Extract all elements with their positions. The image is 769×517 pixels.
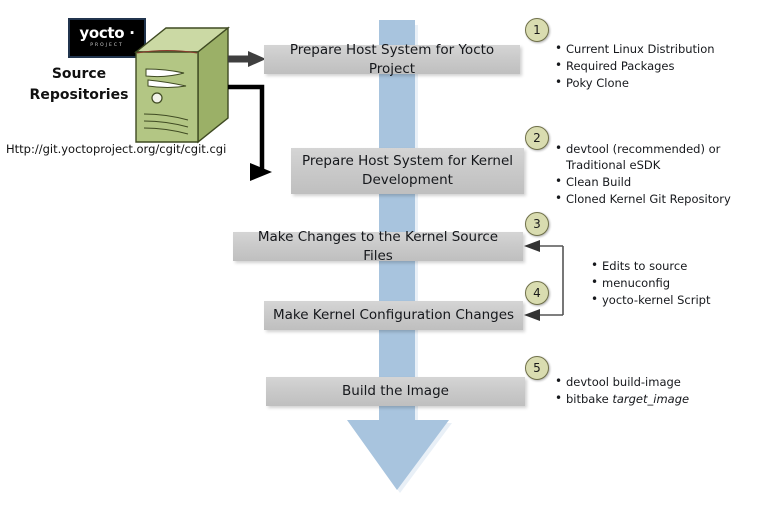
step-badge-1-number: 1 (533, 23, 541, 37)
process-box-step-5[interactable]: Build the Image (266, 377, 525, 406)
server-icon (132, 26, 232, 148)
process-box-step-1[interactable]: Prepare Host System for Yocto Project (264, 45, 520, 74)
source-label-line1: Source (16, 64, 142, 85)
process-box-step-2[interactable]: Prepare Host System for Kernel Developme… (291, 148, 524, 194)
source-repositories-label: Source Repositories (16, 64, 142, 106)
process-box-step-4[interactable]: Make Kernel Configuration Changes (264, 301, 523, 330)
note-item: devtool (recommended) or Traditional eSD… (566, 141, 726, 173)
notes-step-1: Current Linux Distribution Required Pack… (552, 41, 715, 92)
step-badge-4: 4 (525, 281, 549, 305)
logo-wordmark: yocto · (79, 26, 134, 41)
note-item: Edits to source (602, 258, 711, 274)
process-box-step-3[interactable]: Make Changes to the Kernel Source Files (233, 232, 523, 261)
step-badge-4-number: 4 (533, 286, 541, 300)
note-item: Poky Clone (566, 75, 715, 91)
step-badge-5-number: 5 (533, 361, 541, 375)
source-label-line2: Repositories (16, 85, 142, 106)
step-badge-2: 2 (525, 126, 549, 150)
process-box-step-1-label: Prepare Host System for Yocto Project (272, 41, 512, 79)
process-box-step-3-label: Make Changes to the Kernel Source Files (241, 228, 515, 266)
logo-subtext: PROJECT (90, 42, 123, 50)
notes-steps-3-and-4: Edits to source menuconfig yocto-kernel … (588, 258, 711, 309)
notes-step-2: devtool (recommended) or Traditional eSD… (552, 141, 731, 208)
step-badge-3: 3 (525, 212, 549, 236)
process-box-step-2-label-line2: Development (362, 171, 453, 190)
process-box-step-5-label: Build the Image (342, 382, 449, 401)
note-item: Required Packages (566, 58, 715, 74)
step-badge-2-number: 2 (533, 131, 541, 145)
note-item: Current Linux Distribution (566, 41, 715, 57)
note-item: Clean Build (566, 174, 731, 190)
note-item: menuconfig (602, 275, 711, 291)
note-item: bitbake target_image (566, 391, 689, 407)
note-command-prefix: bitbake (566, 392, 612, 406)
note-item: yocto-kernel Script (602, 292, 711, 308)
note-item: Cloned Kernel Git Repository (566, 191, 731, 207)
step-badge-1: 1 (525, 18, 549, 42)
step-badge-3-number: 3 (533, 217, 541, 231)
diagram-canvas: yocto · PROJECT Source Repositories Http… (0, 0, 769, 517)
process-box-step-2-label-line1: Prepare Host System for Kernel (302, 152, 513, 171)
notes-step-5: devtool build-image bitbake target_image (552, 374, 689, 408)
note-command-argument: target_image (612, 392, 689, 406)
note-item: devtool build-image (566, 374, 689, 390)
step-badge-5: 5 (525, 356, 549, 380)
process-box-step-4-label: Make Kernel Configuration Changes (273, 306, 514, 325)
